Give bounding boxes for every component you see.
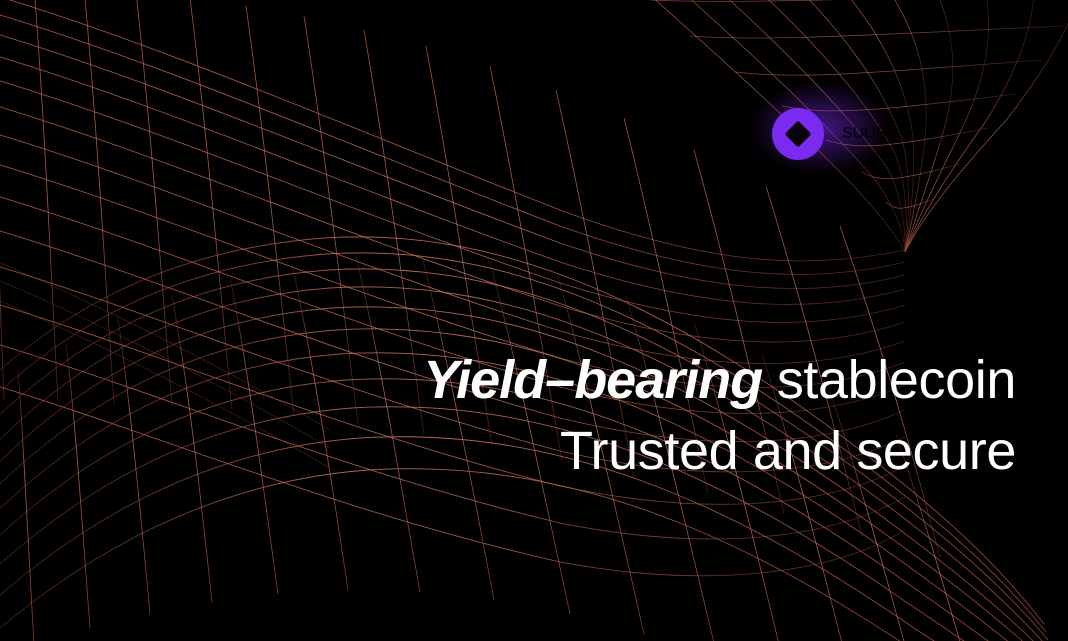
brand-wordmark: SUUSD [842, 125, 898, 143]
headline-line-2: Trusted and secure [296, 416, 1016, 487]
hero-headline: Yield–bearing stablecoin Trusted and sec… [296, 345, 1016, 488]
headline-line-1: Yield–bearing stablecoin [296, 345, 1016, 416]
hero-banner: SUUSD Yield–bearing stablecoin Trusted a… [0, 0, 1068, 641]
wireframe-mesh-background [0, 0, 1068, 641]
brand-lockup: SUUSD [772, 108, 898, 160]
headline-emphasis: Yield–bearing [423, 350, 762, 410]
suusd-diamond-logo-icon [772, 108, 824, 160]
headline-line-1-rest: stablecoin [762, 350, 1016, 410]
